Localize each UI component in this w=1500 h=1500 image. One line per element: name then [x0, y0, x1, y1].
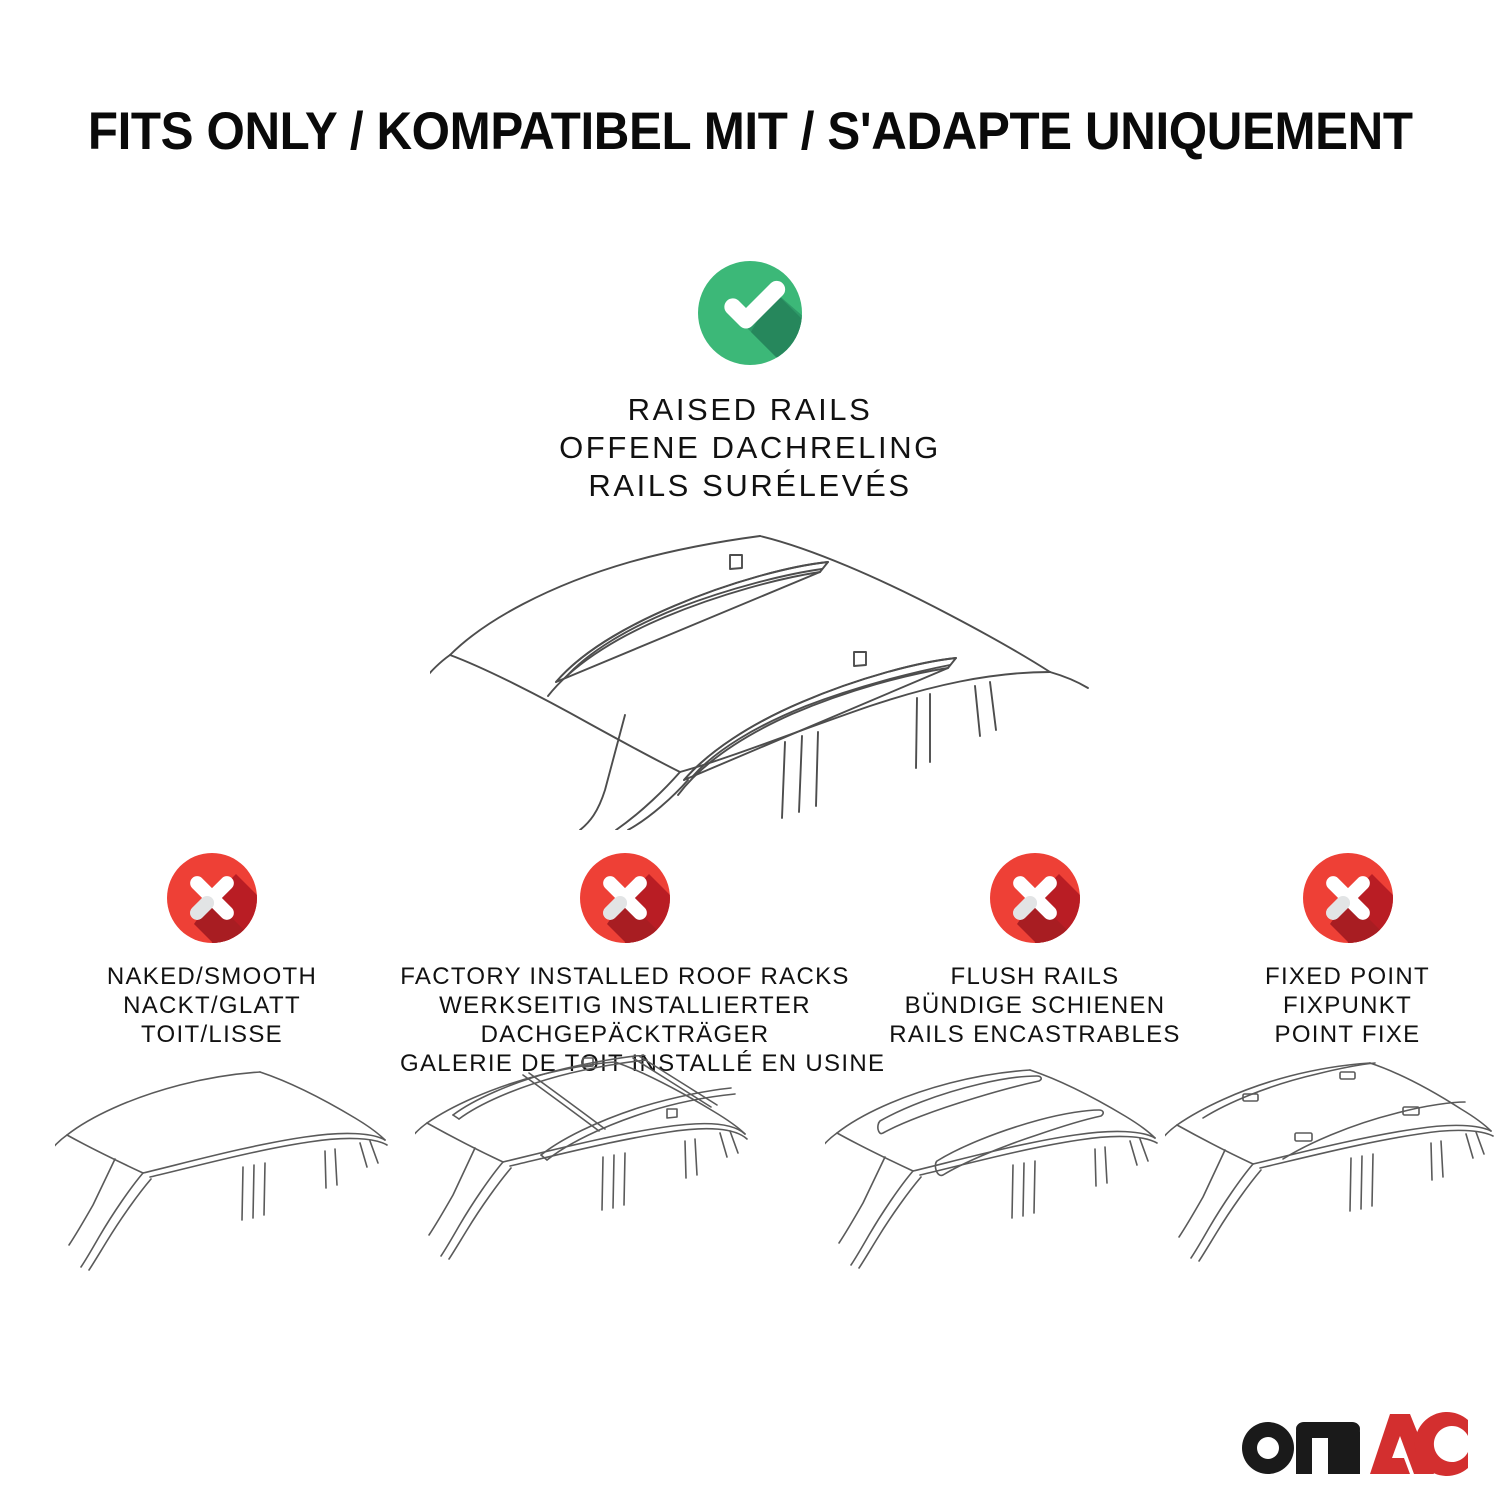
reject-label-line-2: WERKSEITIG INSTALLIERTER — [400, 991, 850, 1020]
green-check-icon — [695, 258, 805, 368]
reject-item-flush-rails: FLUSH RAILS BÜNDIGE SCHIENEN RAILS ENCAS… — [860, 848, 1210, 1049]
reject-label-line-2: FIXPUNKT — [1210, 991, 1485, 1020]
reject-labels: FLUSH RAILS BÜNDIGE SCHIENEN RAILS ENCAS… — [860, 962, 1210, 1049]
red-cross-icon — [575, 848, 675, 948]
page-title: FITS ONLY / KOMPATIBEL MIT / S'ADAPTE UN… — [88, 104, 1413, 160]
approved-labels: RAISED RAILS OFFENE DACHRELING RAILS SUR… — [0, 391, 1500, 505]
reject-label-line-3: RAILS ENCASTRABLES — [860, 1020, 1210, 1049]
reject-label-line-3: TOIT/LISSE — [27, 1020, 397, 1049]
red-cross-icon — [1298, 848, 1398, 948]
red-cross-icon — [985, 848, 1085, 948]
car-roof-fixed-point-diagram — [1165, 1055, 1500, 1280]
approved-label-de: OFFENE DACHRELING — [0, 429, 1500, 467]
reject-label-line-2: NACKT/GLATT — [27, 991, 397, 1020]
red-cross-icon — [162, 848, 262, 948]
omac-logo — [1238, 1408, 1468, 1478]
reject-label-line-1: FACTORY INSTALLED ROOF RACKS — [400, 962, 850, 991]
reject-item-fixed-point: FIXED POINT FIXPUNKT POINT FIXE — [1210, 848, 1485, 1049]
car-roof-flush-rails-diagram — [825, 1055, 1170, 1280]
reject-labels: FIXED POINT FIXPUNKT POINT FIXE — [1210, 962, 1485, 1049]
reject-label-line-2: BÜNDIGE SCHIENEN — [860, 991, 1210, 1020]
reject-labels: NAKED/SMOOTH NACKT/GLATT TOIT/LISSE — [27, 962, 397, 1049]
approved-label-en: RAISED RAILS — [0, 391, 1500, 429]
reject-label-line-1: FLUSH RAILS — [860, 962, 1210, 991]
reject-item-factory-installed-roof-racks: FACTORY INSTALLED ROOF RACKS WERKSEITIG … — [400, 848, 850, 1078]
approved-section: RAISED RAILS OFFENE DACHRELING RAILS SUR… — [0, 258, 1500, 505]
car-roof-factory-rack-diagram — [415, 1055, 760, 1280]
reject-label-line-1: FIXED POINT — [1210, 962, 1485, 991]
car-roof-naked-smooth-diagram — [55, 1055, 400, 1280]
reject-label-line-3: POINT FIXE — [1210, 1020, 1485, 1049]
car-roof-raised-rails-diagram — [430, 500, 1090, 830]
reject-label-line-1: NAKED/SMOOTH — [27, 962, 397, 991]
header: FITS ONLY / KOMPATIBEL MIT / S'ADAPTE UN… — [0, 104, 1500, 160]
reject-label-line-3: DACHGEPÄCKTRÄGER — [400, 1020, 850, 1049]
rejected-section: NAKED/SMOOTH NACKT/GLATT TOIT/LISSE — [0, 848, 1500, 1078]
reject-item-naked-smooth: NAKED/SMOOTH NACKT/GLATT TOIT/LISSE — [27, 848, 397, 1049]
rejected-illustrations — [0, 1055, 1500, 1285]
